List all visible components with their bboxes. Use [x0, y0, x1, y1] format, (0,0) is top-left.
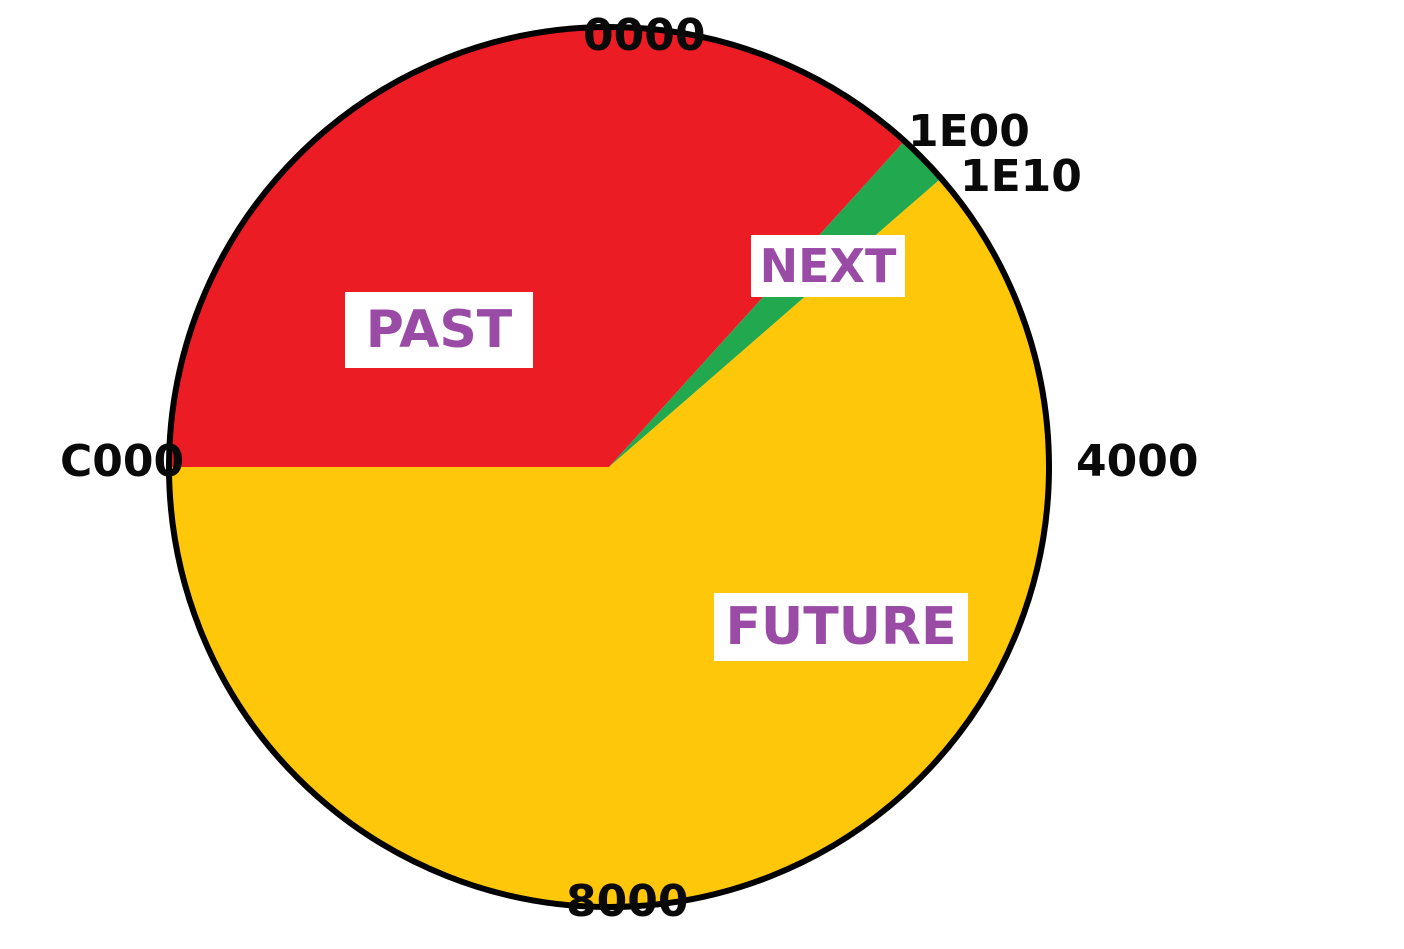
- figure-canvas: 0000 1E00 1E10 4000 8000 C000 PAST NEXT …: [0, 0, 1404, 949]
- region-callout-future: FUTURE: [714, 593, 968, 661]
- tick-label-0000: 0000: [583, 14, 705, 58]
- region-callout-past: PAST: [345, 292, 533, 368]
- tick-label-8000: 8000: [566, 880, 688, 924]
- pie-slices: [169, 27, 1049, 907]
- region-callout-next: NEXT: [751, 235, 905, 297]
- tick-label-4000: 4000: [1076, 440, 1198, 484]
- tick-label-1E10: 1E10: [960, 155, 1082, 199]
- tick-label-C000: C000: [60, 440, 184, 484]
- tick-label-1E00: 1E00: [908, 110, 1030, 154]
